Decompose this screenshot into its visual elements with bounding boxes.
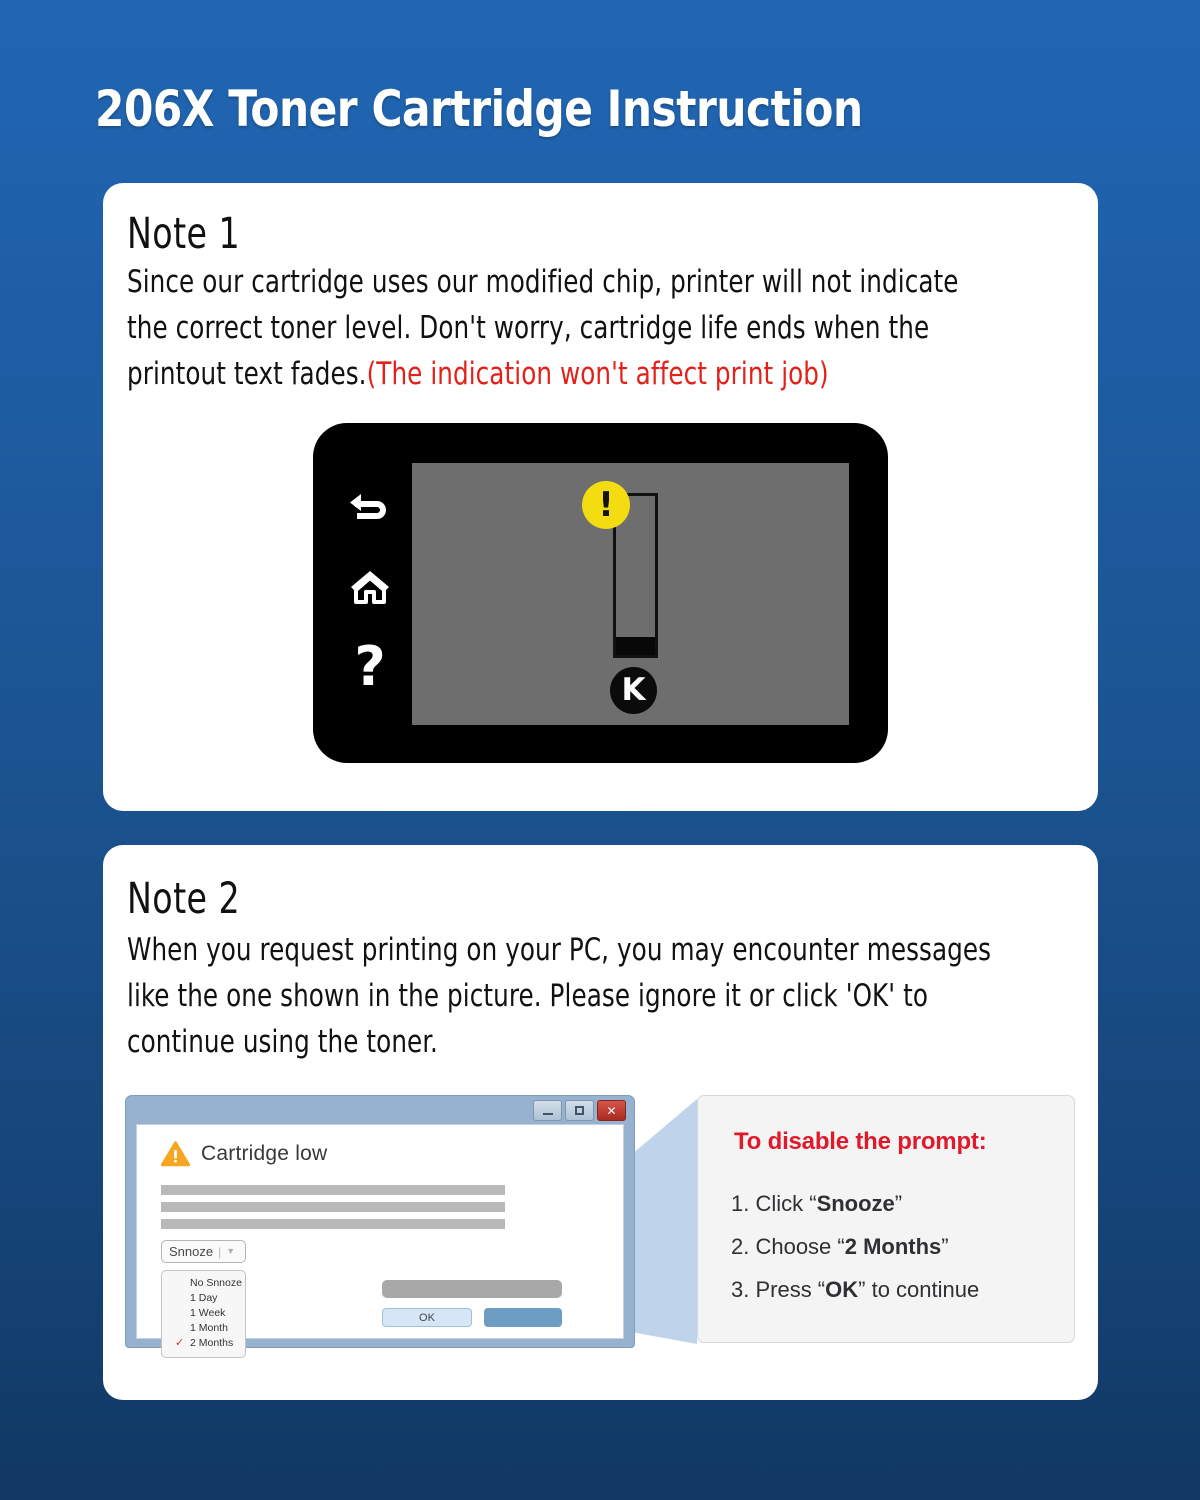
help-icon[interactable]: ?	[335, 636, 405, 698]
note-1-line-2: the correct toner level. Don't worry, ca…	[127, 310, 929, 346]
home-icon[interactable]	[335, 556, 405, 618]
window-controls: ✕	[533, 1100, 626, 1121]
note-1-red-disclaimer: (The indication won't affect print job)	[367, 356, 829, 392]
snooze-dropdown-label: Snnoze	[169, 1244, 213, 1259]
note-2-line-1: When you request printing on your PC, yo…	[127, 927, 1101, 973]
note-2-card: Note 2 When you request printing on your…	[103, 845, 1098, 1400]
list-item[interactable]: No Snnoze	[162, 1276, 245, 1291]
snooze-option-list[interactable]: No Snnoze 1 Day 1 Week 1 Month ✓ 2 Month…	[161, 1270, 246, 1358]
maximize-icon	[575, 1106, 584, 1115]
callout-step-strong: Snooze	[817, 1191, 895, 1216]
ok-button-label: OK	[419, 1312, 435, 1324]
snooze-option-label: 1 Month	[190, 1322, 228, 1334]
checkmark-icon: ✓	[175, 1336, 184, 1351]
warning-badge-glyph: !	[598, 488, 614, 522]
callout-step-strong: 2 Months	[845, 1234, 942, 1259]
note-2-body: When you request printing on your PC, yo…	[127, 927, 1101, 1065]
list-item[interactable]: 1 Month	[162, 1321, 245, 1336]
note-2-line-2: like the one shown in the picture. Pleas…	[127, 973, 1101, 1019]
snooze-option-label: 2 Months	[190, 1337, 233, 1349]
note-2-line-3: continue using the toner.	[127, 1019, 1101, 1065]
callout-step-strong: OK	[825, 1277, 858, 1302]
placeholder-text-bar	[161, 1202, 505, 1212]
page-title: 206X Toner Cartridge Instruction	[95, 84, 1044, 134]
placeholder-button-bar	[382, 1280, 562, 1298]
list-item[interactable]: ✓ 2 Months	[162, 1336, 245, 1351]
callout-step: 3. Press “OK” to continue	[731, 1268, 1071, 1311]
help-glyph: ?	[354, 640, 385, 694]
cartridge-low-dialog: ✕ Cartridge low	[125, 1095, 635, 1348]
dialog-titlebar[interactable]: ✕	[126, 1096, 634, 1124]
dialog-warning-row: Cartridge low	[161, 1141, 327, 1167]
callout-step: 1. Click “Snooze”	[731, 1182, 1071, 1225]
note-1-body: Since our cartridge uses our modified ch…	[127, 259, 1101, 397]
minimize-icon	[543, 1113, 553, 1115]
callout-step-prefix: 3. Press “	[731, 1277, 825, 1302]
maximize-button[interactable]	[565, 1100, 594, 1121]
back-icon[interactable]	[335, 478, 405, 540]
printer-control-panel: ? ! K	[313, 423, 888, 763]
close-button[interactable]: ✕	[597, 1100, 626, 1121]
callout-step-prefix: 1. Click “	[731, 1191, 817, 1216]
close-icon: ✕	[606, 1105, 616, 1117]
placeholder-text-bar	[161, 1219, 505, 1229]
warning-badge-icon: !	[582, 481, 630, 529]
toner-level-indicator: ! K	[580, 481, 690, 713]
toner-color-code-badge: K	[610, 667, 657, 714]
callout-step-list: 1. Click “Snooze” 2. Choose “2 Months” 3…	[731, 1182, 1071, 1311]
callout-title: To disable the prompt:	[734, 1128, 987, 1156]
callout-step-prefix: 2. Choose “	[731, 1234, 845, 1259]
placeholder-text-bar	[161, 1185, 505, 1195]
list-item[interactable]: 1 Day	[162, 1291, 245, 1306]
note-1-line-1: Since our cartridge uses our modified ch…	[127, 264, 959, 300]
toner-color-code-label: K	[621, 675, 645, 706]
snooze-separator: |	[218, 1245, 221, 1259]
snooze-option-label: 1 Week	[190, 1307, 225, 1319]
note-1-heading: Note 1	[127, 213, 240, 256]
callout-step-suffix: ” to continue	[858, 1277, 979, 1302]
snooze-option-label: No Snnoze	[190, 1277, 242, 1289]
callout-step-suffix: ”	[895, 1191, 902, 1216]
dialog-illustration-area: ✕ Cartridge low	[125, 1095, 1085, 1357]
note-1-card: Note 1 Since our cartridge uses our modi…	[103, 183, 1098, 811]
note-1-line-3: printout text fades.	[127, 356, 367, 392]
instruction-page: 206X Toner Cartridge Instruction Note 1 …	[0, 0, 1200, 1500]
snooze-dropdown[interactable]: Snnoze | ▼	[161, 1240, 246, 1263]
disable-prompt-callout: To disable the prompt: 1. Click “Snooze”…	[697, 1095, 1075, 1343]
toner-level-fill	[616, 637, 655, 655]
minimize-button[interactable]	[533, 1100, 562, 1121]
dialog-warning-title: Cartridge low	[201, 1142, 327, 1166]
callout-step: 2. Choose “2 Months”	[731, 1225, 1071, 1268]
snooze-option-label: 1 Day	[190, 1292, 217, 1304]
chevron-down-icon: ▼	[226, 1247, 235, 1256]
ok-button[interactable]: OK	[382, 1308, 472, 1327]
dialog-content: Cartridge low Snnoze | ▼ No Snnoze 1 Day…	[136, 1124, 624, 1339]
note-2-heading: Note 2	[127, 878, 240, 921]
printer-key-column: ?	[335, 468, 405, 718]
warning-triangle-icon	[161, 1141, 190, 1167]
callout-step-suffix: ”	[941, 1234, 948, 1259]
secondary-button[interactable]	[484, 1308, 562, 1327]
printer-screen: ! K	[412, 463, 849, 725]
list-item[interactable]: 1 Week	[162, 1306, 245, 1321]
